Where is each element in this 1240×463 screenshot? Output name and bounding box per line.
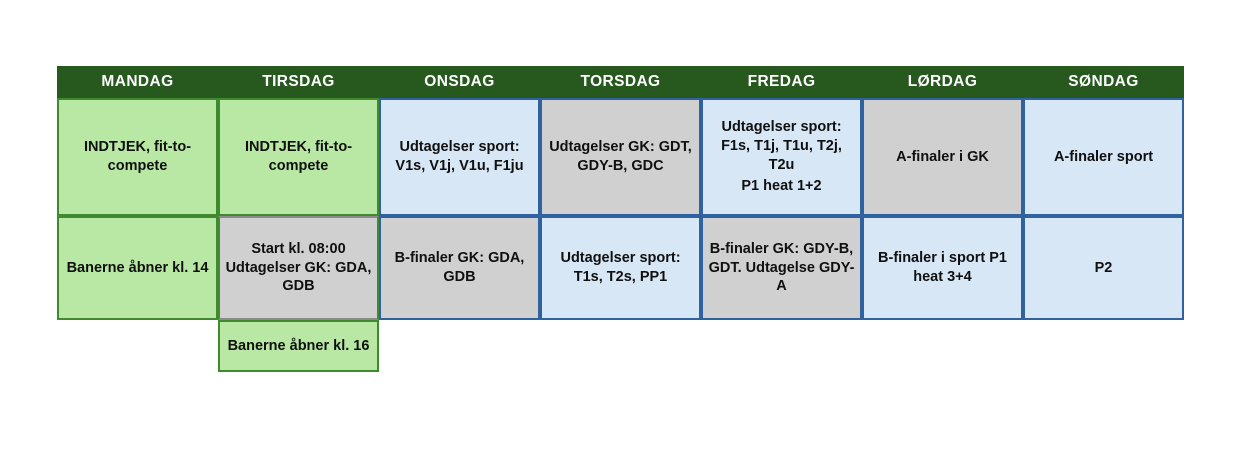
schedule-cell-lordag-2[interactable]: B-finaler i sport P1 heat 3+4	[862, 216, 1023, 320]
column-header-torsdag: TORSDAG	[540, 66, 701, 98]
schedule-cell-lordag-3	[862, 320, 1023, 372]
schedule-cell-fredag-1[interactable]: Udtagelser sport: F1s, T1j, T1u, T2j, T2…	[701, 98, 862, 216]
cell-text: A-finaler i GK	[869, 148, 1016, 167]
column-header-onsdag: ONSDAG	[379, 66, 540, 98]
schedule-table-body: INDTJEK, fit-to-competeINDTJEK, fit-to-c…	[57, 98, 1184, 372]
cell-text: B-finaler i sport P1 heat 3+4	[869, 249, 1016, 287]
schedule-cell-sondag-3	[1023, 320, 1184, 372]
schedule-cell-tirsdag-3[interactable]: Banerne åbner kl. 16	[218, 320, 379, 372]
cell-text: Start kl. 08:00 Udtagelser GK: GDA, GDB	[225, 240, 372, 297]
schedule-cell-torsdag-1[interactable]: Udtagelser GK: GDT, GDY-B, GDC	[540, 98, 701, 216]
cell-text: Udtagelser sport: T1s, T2s, PP1	[547, 249, 694, 287]
table-row: Banerne åbner kl. 14Start kl. 08:00 Udta…	[57, 216, 1184, 320]
weekly-schedule: MANDAG TIRSDAG ONSDAG TORSDAG FREDAG LØR…	[57, 66, 1184, 372]
column-header-lordag: LØRDAG	[862, 66, 1023, 98]
cell-text: B-finaler GK: GDY-B, GDT. Udtagelse GDY-…	[708, 240, 855, 297]
schedule-cell-mandag-1[interactable]: INDTJEK, fit-to-compete	[57, 98, 218, 216]
schedule-cell-lordag-1[interactable]: A-finaler i GK	[862, 98, 1023, 216]
cell-text: A-finaler sport	[1030, 148, 1177, 167]
schedule-cell-torsdag-3	[540, 320, 701, 372]
cell-text: Udtagelser GK: GDT, GDY-B, GDC	[547, 138, 694, 176]
header-row: MANDAG TIRSDAG ONSDAG TORSDAG FREDAG LØR…	[57, 66, 1184, 98]
cell-text: Banerne åbner kl. 14	[64, 259, 211, 278]
schedule-cell-mandag-3	[57, 320, 218, 372]
cell-text: Udtagelser sport: F1s, T1j, T1u, T2j, T2…	[708, 118, 855, 175]
table-row: INDTJEK, fit-to-competeINDTJEK, fit-to-c…	[57, 98, 1184, 216]
schedule-cell-tirsdag-2[interactable]: Start kl. 08:00 Udtagelser GK: GDA, GDB	[218, 216, 379, 320]
cell-text: P1 heat 1+2	[708, 177, 855, 196]
schedule-cell-mandag-2[interactable]: Banerne åbner kl. 14	[57, 216, 218, 320]
schedule-table-head: MANDAG TIRSDAG ONSDAG TORSDAG FREDAG LØR…	[57, 66, 1184, 98]
cell-text: Banerne åbner kl. 16	[225, 337, 372, 356]
cell-text: P2	[1030, 259, 1177, 278]
schedule-cell-fredag-3	[701, 320, 862, 372]
schedule-cell-tirsdag-1[interactable]: INDTJEK, fit-to-compete	[218, 98, 379, 216]
schedule-cell-onsdag-2[interactable]: B-finaler GK: GDA, GDB	[379, 216, 540, 320]
schedule-table: MANDAG TIRSDAG ONSDAG TORSDAG FREDAG LØR…	[57, 66, 1184, 372]
schedule-cell-sondag-2[interactable]: P2	[1023, 216, 1184, 320]
schedule-cell-onsdag-1[interactable]: Udtagelser sport: V1s, V1j, V1u, F1ju	[379, 98, 540, 216]
cell-text: INDTJEK, fit-to-compete	[64, 138, 211, 176]
cell-text: Udtagelser sport: V1s, V1j, V1u, F1ju	[386, 138, 533, 176]
schedule-cell-sondag-1[interactable]: A-finaler sport	[1023, 98, 1184, 216]
table-row: Banerne åbner kl. 16	[57, 320, 1184, 372]
schedule-cell-torsdag-2[interactable]: Udtagelser sport: T1s, T2s, PP1	[540, 216, 701, 320]
cell-text: INDTJEK, fit-to-compete	[225, 138, 372, 176]
column-header-mandag: MANDAG	[57, 66, 218, 98]
column-header-sondag: SØNDAG	[1023, 66, 1184, 98]
cell-text: B-finaler GK: GDA, GDB	[386, 249, 533, 287]
column-header-tirsdag: TIRSDAG	[218, 66, 379, 98]
schedule-cell-fredag-2[interactable]: B-finaler GK: GDY-B, GDT. Udtagelse GDY-…	[701, 216, 862, 320]
schedule-cell-onsdag-3	[379, 320, 540, 372]
column-header-fredag: FREDAG	[701, 66, 862, 98]
